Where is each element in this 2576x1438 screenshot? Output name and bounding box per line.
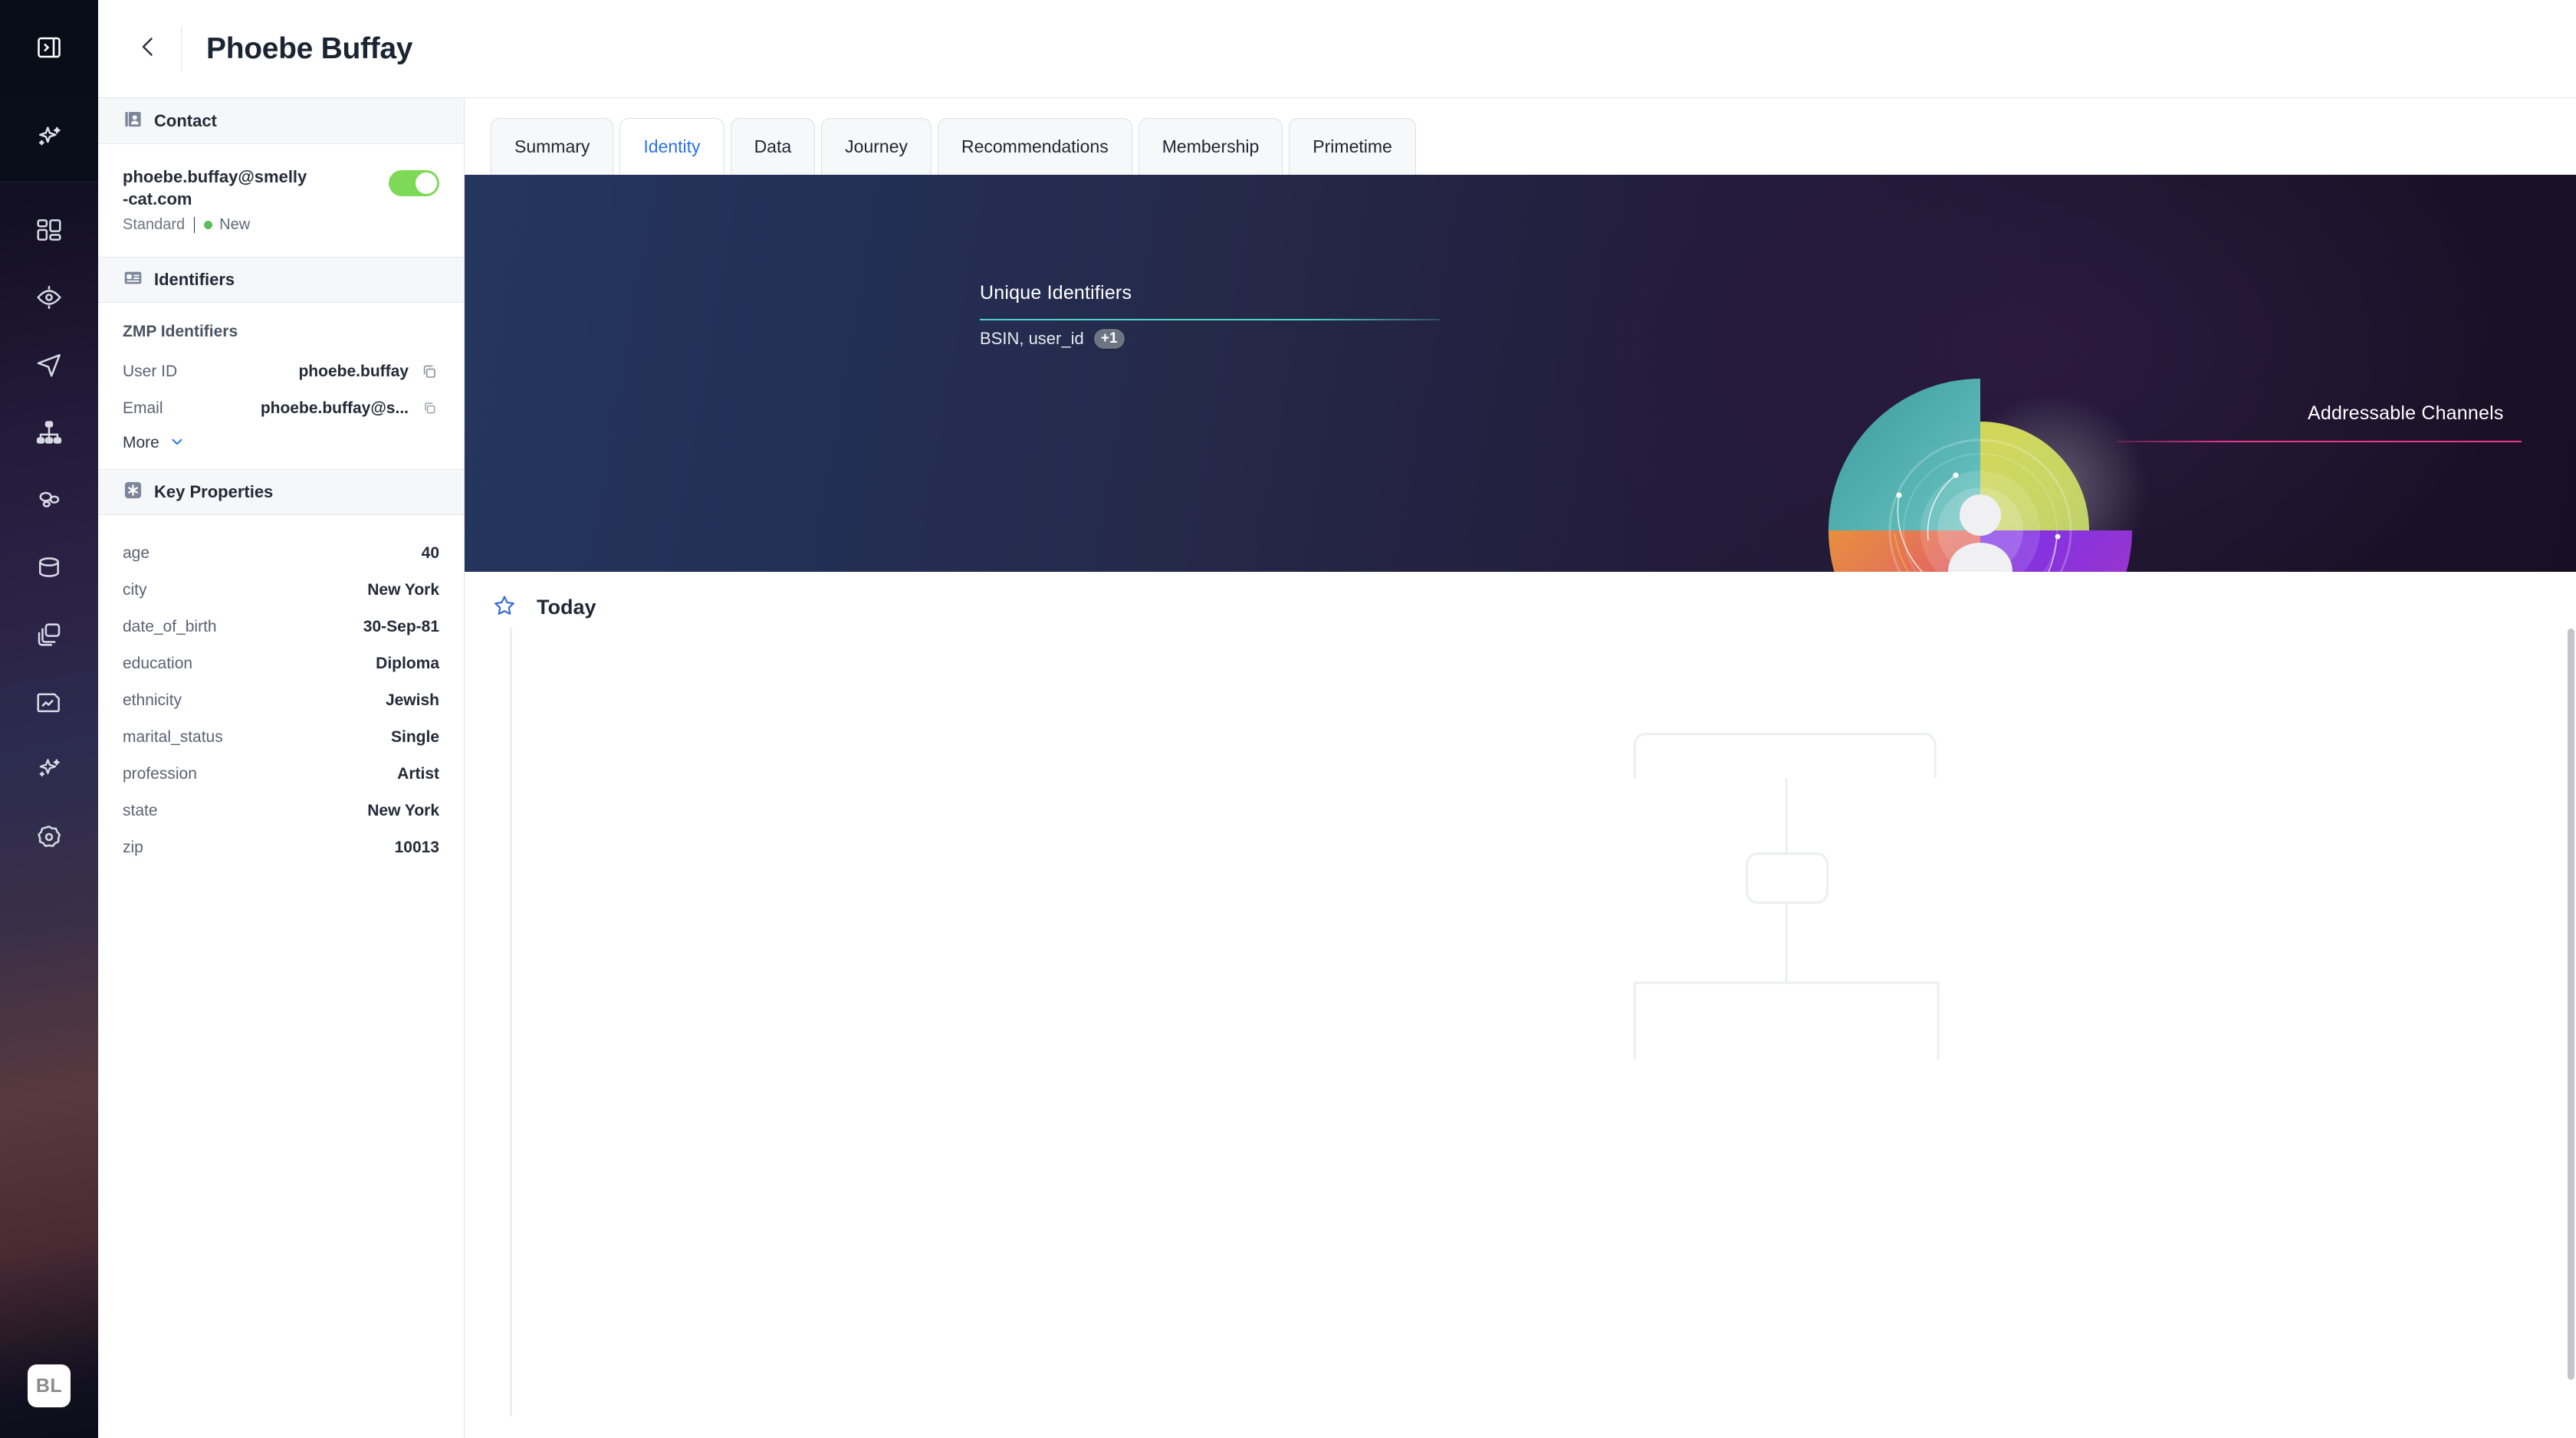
tab-primetime[interactable]: Primetime [1289,118,1416,175]
nav-item-segments[interactable] [0,466,98,534]
property-value: 40 [149,544,439,563]
property-key: ethnicity [123,691,182,710]
contact-meta: Standard New [123,216,379,234]
contact-email: phoebe.buffay@smelly-cat.com [123,166,310,211]
app-root: BL Phoebe Buffay [0,0,2576,1438]
identity-graph-connectors [465,572,2576,1438]
unique-identifiers-value: BSIN, user_id [980,329,1084,349]
more-identifiers-toggle[interactable]: More [123,433,439,454]
paper-plane-icon [34,350,64,379]
timeline-axis [510,627,512,1417]
database-icon [34,553,64,582]
key-properties-list: age 40 city New York date_of_birth 30-Se… [98,515,464,882]
property-value: Artist [197,765,439,783]
unique-identifiers-value-row: BSIN, user_id +1 [980,328,1125,350]
identity-hero-banner: Unique Identifiers BSIN, user_id +1 Chan… [465,175,2576,572]
nav-item-journeys[interactable] [0,399,98,466]
nav-item-data[interactable] [0,534,98,601]
star-outline-icon[interactable] [492,593,517,622]
section-title: Identifiers [154,270,235,290]
section-header-key-properties[interactable]: Key Properties [98,469,464,515]
scrollbar-thumb[interactable] [2568,629,2574,1380]
profile-tabs: Summary Identity Data Journey Recommenda… [465,98,2576,175]
left-nav-rail: BL [0,0,98,1438]
panel-expand-icon [35,34,63,65]
page-scrollbar[interactable] [2566,0,2576,1438]
property-key: date_of_birth [123,618,217,636]
header-divider [181,27,182,71]
property-value: Diploma [192,655,439,673]
body: Contact phoebe.buffay@smelly-cat.com Sta… [98,98,2576,1438]
contact-side-panel: Contact phoebe.buffay@smelly-cat.com Sta… [98,98,465,1438]
key-property-row: profession Artist [123,756,439,793]
stage: Phoebe Buffay Contact [98,0,2576,1438]
identity-timeline-canvas: Today Th [465,572,2576,1438]
identity-pinwheel-graphic [1825,353,2135,572]
property-value: Single [223,728,439,747]
section-header-contact[interactable]: Contact [98,98,464,144]
section-header-identifiers[interactable]: Identifiers [98,257,464,303]
key-property-row: zip 10013 [123,829,439,866]
contact-status: New [204,216,250,234]
key-property-row: marital_status Single [123,719,439,756]
nav-item-assets[interactable] [0,601,98,668]
tab-summary[interactable]: Summary [491,118,613,175]
id-card-icon [123,268,143,292]
chevron-left-icon [134,33,162,64]
status-badge: New [219,216,250,234]
nav-item-audiences[interactable] [0,264,98,331]
property-value: 10013 [143,839,439,857]
property-key: marital_status [123,728,223,747]
key-property-row: city New York [123,572,439,609]
tab-recommendations[interactable]: Recommendations [938,118,1132,175]
identifiers-group-label: ZMP Identifiers [123,323,439,341]
property-value: Jewish [182,691,439,710]
avatar: BL [28,1364,71,1407]
contact-summary: phoebe.buffay@smelly-cat.com Standard Ne… [98,144,464,257]
more-label: More [123,434,159,452]
nav-item-settings[interactable] [0,803,98,871]
property-key: zip [123,839,143,857]
identifier-key: User ID [123,363,177,381]
nav-item-reports[interactable] [0,668,98,736]
identifier-row: Email phoebe.buffay@s... [123,390,439,427]
contact-tier: Standard [123,216,185,234]
timeline-today-marker: Today [492,593,596,622]
property-key: education [123,655,192,673]
copy-icon[interactable] [419,400,439,416]
status-dot-icon [204,221,212,229]
report-image-icon [34,688,64,717]
tab-membership[interactable]: Membership [1138,118,1283,175]
property-key: profession [123,765,197,783]
tab-identity[interactable]: Identity [619,118,724,175]
contact-text: phoebe.buffay@smelly-cat.com Standard Ne… [123,166,389,234]
gear-icon [34,822,64,852]
dashboard-grid-icon [34,215,64,245]
page-title: Phoebe Buffay [206,32,412,66]
layers-icon [34,620,64,649]
sparkle-icon [34,755,64,784]
property-key: city [123,581,147,599]
identifier-row: User ID phoebe.buffay [123,353,439,390]
collapse-panel-button[interactable] [0,0,98,98]
chevron-down-icon [169,433,186,454]
org-chart-icon [34,418,64,447]
copy-icon[interactable] [419,363,439,381]
key-property-row: age 40 [123,535,439,572]
segments-bubbles-icon [34,485,64,514]
addressable-channels-rule [2117,441,2522,442]
page-header: Phoebe Buffay [98,0,2576,98]
tab-journey[interactable]: Journey [821,118,932,175]
property-key: state [123,802,158,820]
asterisk-icon [123,480,143,504]
identifiers-block: ZMP Identifiers User ID phoebe.buffay E [98,303,464,469]
nav-items [0,182,98,871]
section-title: Key Properties [154,482,273,502]
property-value: New York [158,802,439,820]
contact-card-icon [123,109,143,133]
key-property-row: date_of_birth 30-Sep-81 [123,609,439,645]
user-avatar-button[interactable]: BL [0,1334,98,1438]
key-property-row: ethnicity Jewish [123,682,439,719]
addressable-channels-label: Addressable Channels [2308,402,2504,425]
nav-item-campaigns[interactable] [0,331,98,399]
identifier-key: Email [123,399,163,418]
key-property-row: education Diploma [123,645,439,682]
property-value: New York [147,581,440,599]
contact-active-toggle[interactable] [389,170,439,196]
unique-identifiers-more-badge[interactable]: +1 [1093,328,1125,350]
target-eye-icon [34,283,64,312]
section-title: Contact [154,111,217,131]
identifier-value: phoebe.buffay [188,363,409,381]
today-label: Today [537,596,596,619]
property-key: age [123,544,149,563]
unique-identifiers-label: Unique Identifiers [980,282,1132,304]
unique-identifiers-rule [980,319,1440,320]
property-value: 30-Sep-81 [217,618,439,636]
meta-divider [194,217,195,233]
main-content: Summary Identity Data Journey Recommenda… [465,98,2576,1438]
key-property-row: state New York [123,793,439,829]
identifier-value: phoebe.buffay@s... [174,399,409,418]
nav-item-intelligence[interactable] [0,736,98,803]
nav-item-ai-assistant[interactable] [0,98,98,182]
sparkle-icon [34,123,64,157]
back-button[interactable] [126,27,170,71]
nav-item-dashboard[interactable] [0,196,98,264]
tab-data[interactable]: Data [731,118,816,175]
